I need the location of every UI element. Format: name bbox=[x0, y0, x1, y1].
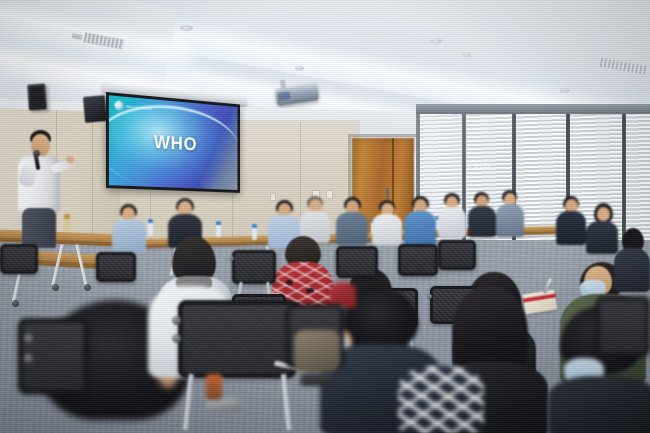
chair[interactable] bbox=[178, 300, 296, 378]
bag bbox=[294, 330, 340, 372]
shoe bbox=[206, 398, 242, 412]
photo-scene: Oui World Health WHO bbox=[0, 0, 650, 433]
chair[interactable] bbox=[596, 296, 650, 356]
leg bbox=[206, 374, 222, 400]
chair[interactable] bbox=[18, 318, 88, 394]
audience-row-3 bbox=[0, 0, 650, 433]
shoe bbox=[300, 372, 334, 386]
attendee bbox=[398, 366, 484, 433]
